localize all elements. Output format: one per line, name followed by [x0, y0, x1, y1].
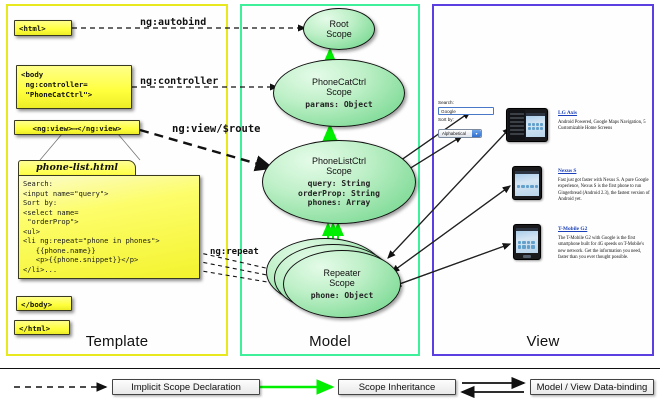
body-open-tag: <body ng:controller= "PhoneCatCtrl"> — [16, 65, 132, 109]
phone-thumbnail-2 — [513, 224, 541, 260]
phone-name-2[interactable]: T-Mobile G2 — [558, 226, 587, 232]
phone-snippet-0: Android Powered, Google Maps Navigation,… — [558, 120, 652, 133]
chevron-down-icon: ▾ — [472, 130, 481, 137]
scope-phonelistctrl: PhoneListCtrl Scope query: String orderP… — [262, 140, 416, 224]
scope-root: Root Scope — [303, 8, 375, 50]
legend-divider — [0, 368, 660, 369]
legend-item-databinding: Model / View Data-binding — [530, 379, 654, 395]
html-open-tag: <html> — [14, 20, 72, 36]
wire-label-autobind: ng:autobind — [140, 17, 206, 28]
wire-label-controller: ng:controller — [140, 76, 218, 87]
scope-phonecatctrl-line2: Scope — [326, 87, 352, 97]
scope-repeater-props: phone: Object — [311, 291, 374, 301]
scope-root-line2: Scope — [326, 29, 352, 39]
ng-view-tag: <ng:view>▭</ng:view> — [14, 120, 140, 135]
html-close-tag: </html> — [14, 320, 70, 335]
section-label-view: View — [432, 333, 654, 350]
diagram-canvas: Template Model View — [0, 0, 660, 405]
phone-thumbnail-1 — [512, 166, 542, 200]
legend-item-implicit: Implicit Scope Declaration — [112, 379, 260, 395]
phone-name-0[interactable]: LG Axis — [558, 110, 577, 116]
code-card-title: phone-list.html — [18, 160, 136, 175]
legend-item-inheritance: Scope Inheritance — [338, 379, 456, 395]
wire-label-repeat: ng:repeat — [210, 247, 259, 257]
scope-repeater-line2: Scope — [329, 278, 355, 288]
scope-phonelistctrl-props: query: String orderProp: String phones: … — [298, 179, 380, 208]
scope-phonecatctrl-props: params: Object — [305, 100, 372, 110]
scope-phonelistctrl-line1: PhoneListCtrl — [312, 156, 366, 166]
section-label-model: Model — [240, 333, 420, 350]
sort-select[interactable]: Alphabetical ▾ — [438, 129, 482, 138]
phone-thumbnail-0 — [506, 108, 548, 142]
scope-phonelistctrl-line2: Scope — [326, 166, 352, 176]
scope-phonecatctrl-line1: PhoneCatCtrl — [312, 77, 366, 87]
phone-name-1[interactable]: Nexus S — [558, 168, 576, 174]
scope-root-line1: Root — [329, 19, 348, 29]
section-label-template: Template — [6, 333, 228, 350]
phone-snippet-2: The T-Mobile G2 with Google is the first… — [558, 236, 652, 262]
phone-list-html-card: phone-list.html Search: <input name="que… — [18, 160, 200, 279]
search-label: Search: — [438, 100, 498, 106]
phone-snippet-1: Fast just got faster with Nexus S. A pur… — [558, 178, 652, 204]
scope-repeater-line1: Repeater — [323, 268, 360, 278]
sort-select-value: Alphabetical — [442, 131, 466, 136]
code-card-body: Search: <input name="query"> Sort by: <s… — [18, 175, 200, 279]
search-input[interactable]: Google — [438, 107, 494, 115]
scope-repeater: Repeater Scope phone: Object — [283, 250, 401, 318]
sort-label: Sort by: — [438, 117, 498, 123]
view-search-form: Search: Google Sort by: Alphabetical ▾ — [438, 100, 498, 140]
scope-phonecatctrl: PhoneCatCtrl Scope params: Object — [273, 59, 405, 127]
wire-label-route: ng:view/$route — [172, 123, 261, 135]
body-close-tag: </body> — [16, 296, 72, 311]
